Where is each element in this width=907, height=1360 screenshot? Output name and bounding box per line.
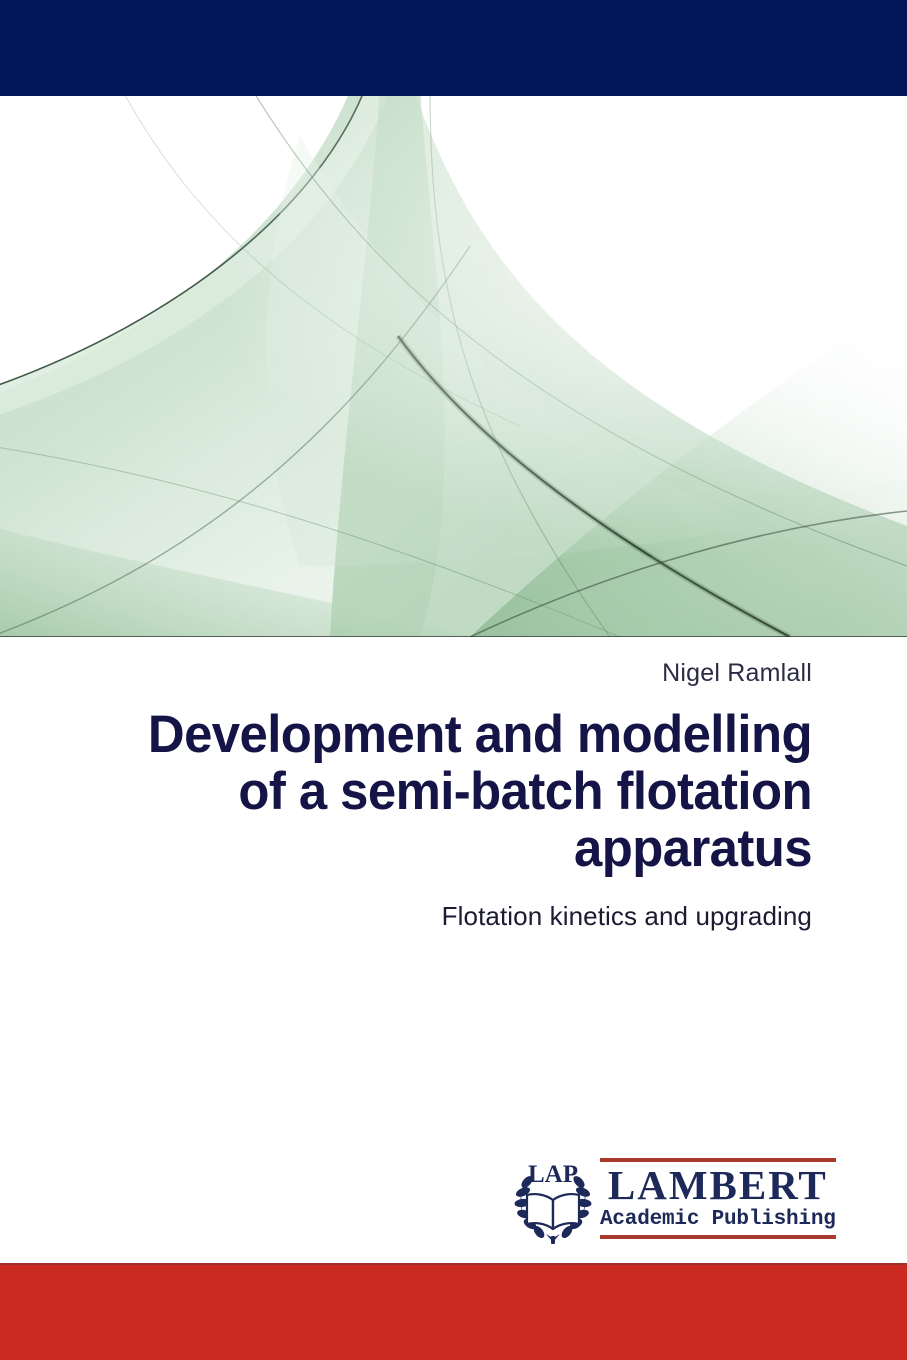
- cover-artwork: [0, 96, 907, 637]
- book-subtitle: Flotation kinetics and upgrading: [92, 899, 812, 933]
- open-book-icon: [527, 1194, 579, 1229]
- top-color-band: [0, 0, 907, 96]
- cover-text-block: Nigel Ramlall Development and modelling …: [92, 656, 812, 933]
- logo-rule-bottom: [600, 1235, 836, 1239]
- artwork-glow: [0, 96, 907, 637]
- publisher-wordmark: LAMBERT Academic Publishing: [594, 1158, 836, 1239]
- book-title: Development and modelling of a semi-batc…: [121, 706, 812, 877]
- bottom-color-band: [0, 1265, 907, 1360]
- publisher-tagline: Academic Publishing: [600, 1207, 836, 1235]
- author-name: Nigel Ramlall: [92, 656, 812, 690]
- artwork-svg: [0, 96, 907, 637]
- publisher-name: LAMBERT: [600, 1162, 836, 1207]
- lap-emblem-icon: LAP: [512, 1152, 594, 1244]
- lap-wordmark: LAP: [528, 1161, 578, 1188]
- artwork-baseline-rule: [0, 636, 907, 637]
- book-cover: Nigel Ramlall Development and modelling …: [0, 0, 907, 1360]
- publisher-logo: LAP LAMBERT Academic Publishing: [512, 1152, 824, 1244]
